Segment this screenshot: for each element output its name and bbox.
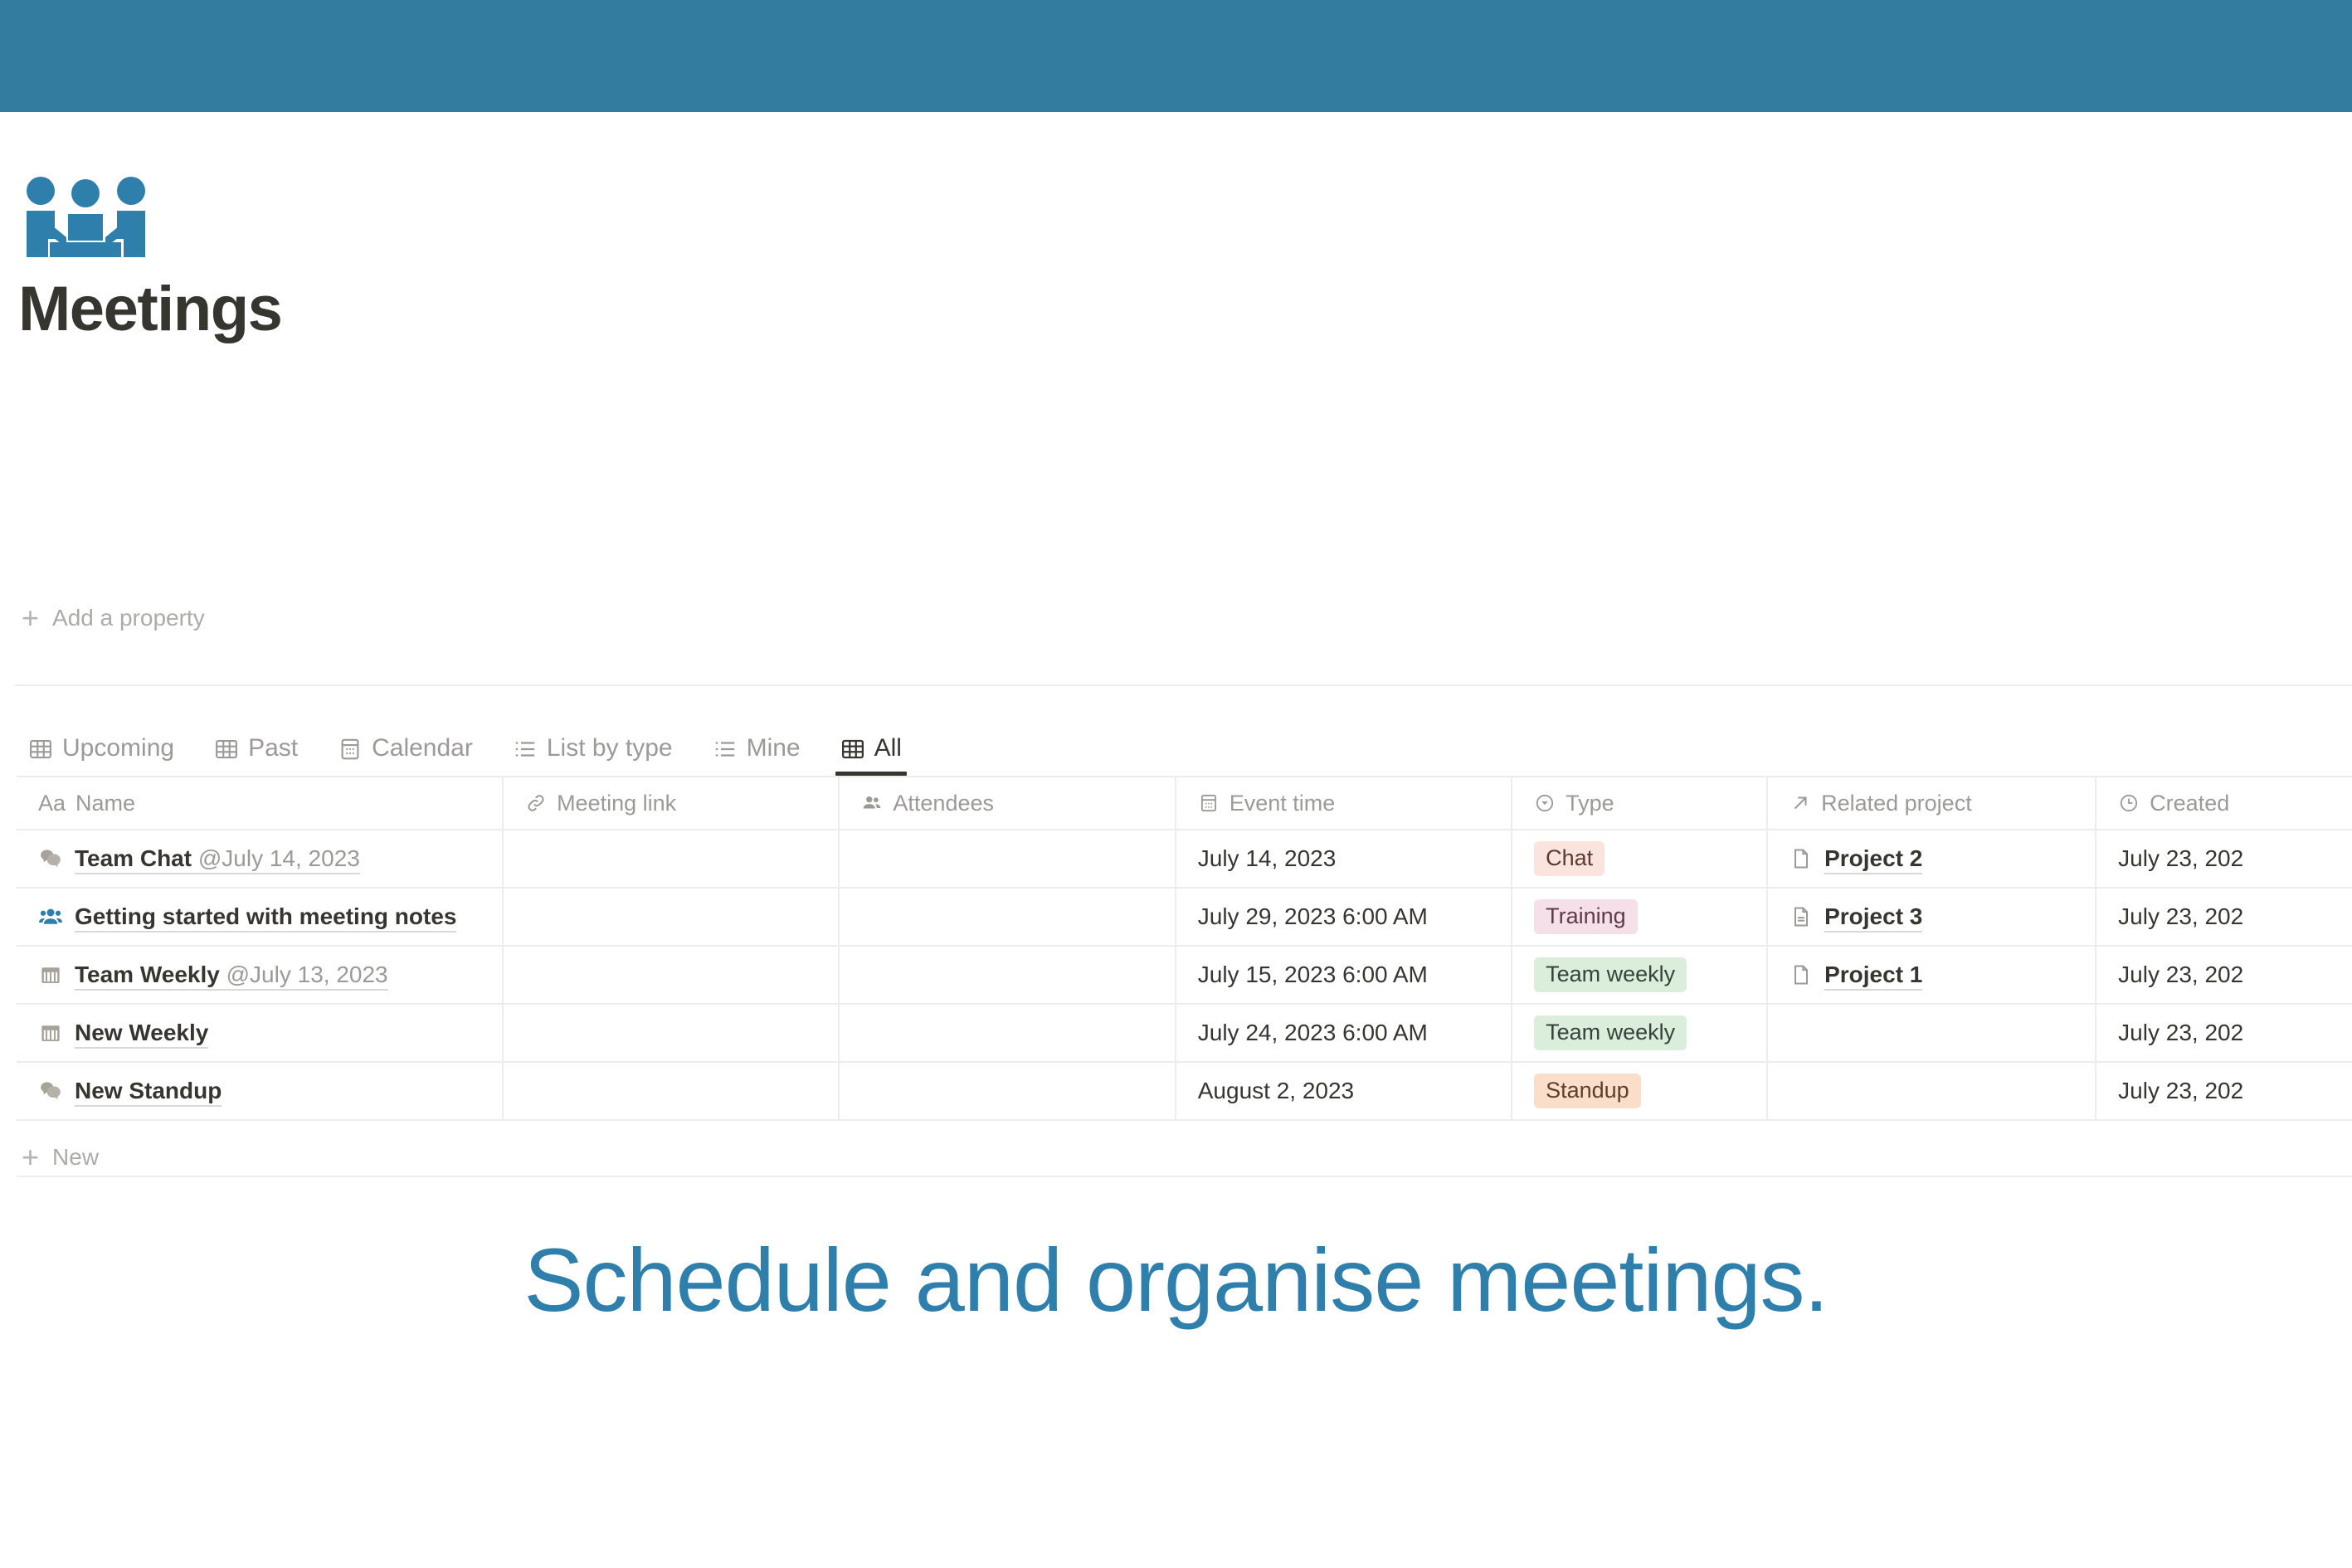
- row-title: Getting started with meeting notes: [75, 902, 456, 933]
- lined-page-icon: [1790, 905, 1813, 928]
- people-meeting-icon: [15, 176, 156, 267]
- column-header-created[interactable]: Created: [2096, 777, 2352, 829]
- cell-meeting-link[interactable]: [504, 1005, 840, 1061]
- cell-related-project[interactable]: [1768, 1063, 2096, 1119]
- cell-name[interactable]: New Standup: [17, 1063, 504, 1119]
- date-property-icon: [1198, 792, 1220, 814]
- row-title: Team Weekly @July 13, 2023: [75, 960, 388, 991]
- tab-list-by-type[interactable]: List by type: [508, 724, 689, 776]
- people-group-icon: [38, 904, 63, 929]
- column-header-name[interactable]: Aa Name: [17, 777, 504, 829]
- column-header-meeting-link[interactable]: Meeting link: [504, 777, 840, 829]
- row-title: Team Chat @July 14, 2023: [75, 844, 360, 874]
- column-label: Created: [2150, 791, 2229, 816]
- type-tag: Chat: [1534, 841, 1605, 875]
- table-row[interactable]: Team Weekly @July 13, 2023 July 15, 2023…: [17, 947, 2352, 1005]
- project-name: Project 3: [1824, 902, 1922, 933]
- cell-related-project[interactable]: Project 1: [1768, 947, 2096, 1003]
- cell-name[interactable]: New Weekly: [17, 1005, 504, 1061]
- tab-label: All: [874, 736, 902, 762]
- cell-type[interactable]: Standup: [1512, 1063, 1768, 1119]
- cell-related-project[interactable]: Project 3: [1768, 889, 2096, 945]
- database-table: Aa Name Meeting link: [17, 776, 2352, 1121]
- table-view-icon: [214, 737, 239, 762]
- cell-type[interactable]: Team weekly: [1512, 947, 1768, 1003]
- list-view-icon: [513, 737, 538, 762]
- table-row[interactable]: Team Chat @July 14, 2023 July 14, 2023 C…: [17, 830, 2352, 889]
- tab-past[interactable]: Past: [209, 724, 314, 776]
- cell-created[interactable]: July 23, 202: [2096, 830, 2352, 887]
- cell-created[interactable]: July 23, 202: [2096, 889, 2352, 945]
- cell-type[interactable]: Chat: [1512, 830, 1768, 887]
- cell-created[interactable]: July 23, 202: [2096, 1005, 2352, 1061]
- blank-page-icon: [1790, 847, 1813, 870]
- cell-meeting-link[interactable]: [504, 947, 840, 1003]
- clock-property-icon: [2118, 792, 2140, 814]
- tab-label: Upcoming: [62, 736, 174, 762]
- blank-page-icon: [1790, 963, 1813, 986]
- new-row-button[interactable]: + New: [22, 1142, 99, 1172]
- relation-property-icon: [1790, 792, 1811, 814]
- table-bottom-rule: [17, 1176, 2352, 1177]
- speech-bubbles-icon: [38, 846, 63, 871]
- calendar-view-icon: [338, 737, 363, 762]
- cell-type[interactable]: Training: [1512, 889, 1768, 945]
- plus-icon: +: [22, 1142, 39, 1172]
- cell-event-time[interactable]: July 15, 2023 6:00 AM: [1176, 947, 1512, 1003]
- table-row[interactable]: New Weekly July 24, 2023 6:00 AM Team we…: [17, 1005, 2352, 1063]
- column-header-related-project[interactable]: Related project: [1768, 777, 2096, 829]
- tab-label: Past: [248, 736, 298, 762]
- table-header-row: Aa Name Meeting link: [17, 777, 2352, 830]
- column-label: Type: [1566, 791, 1614, 816]
- column-label: Event time: [1230, 791, 1336, 816]
- column-label: Attendees: [893, 791, 994, 816]
- cell-attendees[interactable]: [840, 1005, 1176, 1061]
- table-view-icon: [840, 737, 865, 762]
- table-row[interactable]: New Standup August 2, 2023 Standup July …: [17, 1063, 2352, 1121]
- cell-name[interactable]: Team Chat @July 14, 2023: [17, 830, 504, 887]
- cell-related-project[interactable]: [1768, 1005, 2096, 1061]
- cell-meeting-link[interactable]: [504, 1063, 840, 1119]
- table-row[interactable]: Getting started with meeting notes July …: [17, 889, 2352, 947]
- row-title: New Standup: [75, 1076, 222, 1107]
- type-tag: Training: [1534, 899, 1638, 933]
- page-title: Meetings: [18, 278, 281, 341]
- cell-attendees[interactable]: [840, 1063, 1176, 1119]
- cell-attendees[interactable]: [840, 889, 1176, 945]
- view-tabs: Upcoming Past: [23, 724, 937, 776]
- tab-all[interactable]: All: [835, 724, 918, 776]
- type-tag: Standup: [1534, 1074, 1641, 1108]
- cell-related-project[interactable]: Project 2: [1768, 830, 2096, 887]
- section-divider: [15, 684, 2352, 686]
- person-property-icon: [861, 792, 883, 814]
- cell-meeting-link[interactable]: [504, 830, 840, 887]
- cell-event-time[interactable]: July 24, 2023 6:00 AM: [1176, 1005, 1512, 1061]
- calendar-icon: [38, 1020, 63, 1045]
- cell-event-time[interactable]: August 2, 2023: [1176, 1063, 1512, 1119]
- type-tag: Team weekly: [1534, 957, 1687, 991]
- select-property-icon: [1534, 792, 1556, 814]
- cell-event-time[interactable]: July 29, 2023 6:00 AM: [1176, 889, 1512, 945]
- tab-upcoming[interactable]: Upcoming: [23, 724, 191, 776]
- calendar-icon: [38, 962, 63, 987]
- new-row-label: New: [52, 1144, 99, 1171]
- cell-event-time[interactable]: July 14, 2023: [1176, 830, 1512, 887]
- project-name: Project 1: [1824, 960, 1922, 991]
- cell-meeting-link[interactable]: [504, 889, 840, 945]
- column-label: Name: [75, 791, 135, 816]
- tab-label: Calendar: [372, 736, 473, 762]
- link-property-icon: [525, 792, 547, 814]
- notion-page: Meetings + Add a property Upcoming: [0, 112, 2352, 1191]
- row-title: New Weekly: [75, 1018, 208, 1049]
- plus-icon: +: [22, 603, 39, 633]
- tab-label: Mine: [747, 736, 801, 762]
- type-tag: Team weekly: [1534, 1015, 1687, 1049]
- column-label: Related project: [1821, 791, 1972, 816]
- cell-created[interactable]: July 23, 202: [2096, 1063, 2352, 1119]
- project-name: Project 2: [1824, 844, 1922, 874]
- table-view-icon: [28, 737, 53, 762]
- top-banner: [0, 0, 2352, 112]
- cell-attendees[interactable]: [840, 830, 1176, 887]
- add-property-label: Add a property: [52, 605, 205, 631]
- column-header-event-time[interactable]: Event time: [1176, 777, 1512, 829]
- caption-text: Schedule and organise meetings.: [0, 1228, 2352, 1332]
- cell-name[interactable]: Getting started with meeting notes: [17, 889, 504, 945]
- cell-name[interactable]: Team Weekly @July 13, 2023: [17, 947, 504, 1003]
- column-label: Meeting link: [557, 791, 676, 816]
- text-property-icon: Aa: [38, 791, 66, 816]
- add-property-button[interactable]: + Add a property: [22, 603, 205, 633]
- column-header-type[interactable]: Type: [1512, 777, 1768, 829]
- tab-mine[interactable]: Mine: [708, 724, 817, 776]
- list-view-icon: [713, 737, 738, 762]
- cell-created[interactable]: July 23, 202: [2096, 947, 2352, 1003]
- tab-calendar[interactable]: Calendar: [333, 724, 489, 776]
- tab-label: List by type: [547, 736, 673, 762]
- speech-bubbles-icon: [38, 1079, 63, 1103]
- cell-attendees[interactable]: [840, 947, 1176, 1003]
- column-header-attendees[interactable]: Attendees: [840, 777, 1176, 829]
- cell-type[interactable]: Team weekly: [1512, 1005, 1768, 1061]
